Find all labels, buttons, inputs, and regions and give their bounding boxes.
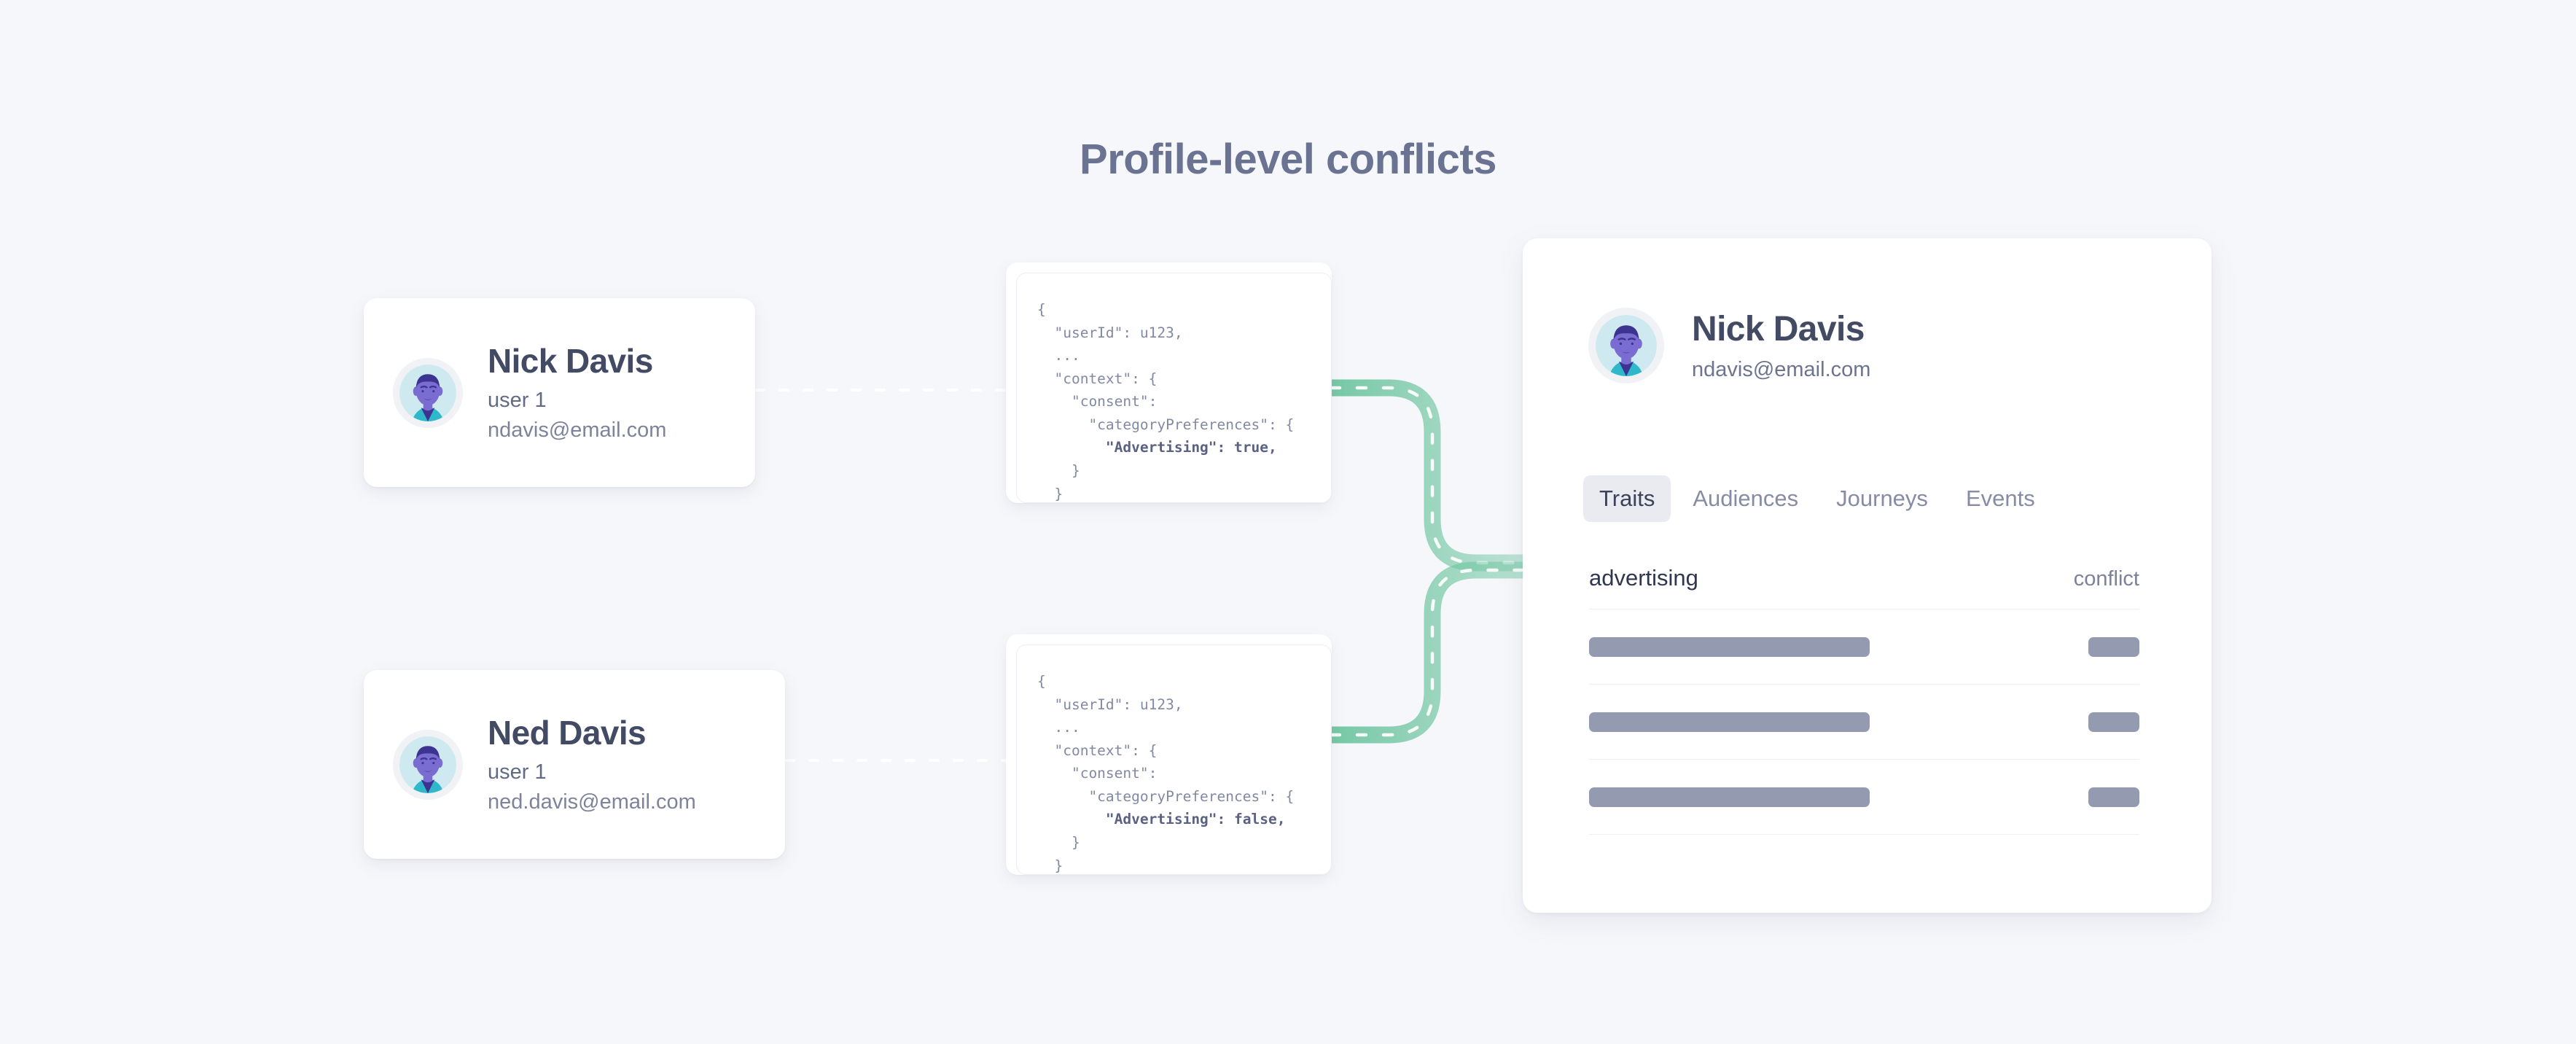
table-row[interactable] xyxy=(1589,760,2139,835)
payload-json: { "userId": u123, ... "context": { "cons… xyxy=(1017,273,1331,503)
avatar xyxy=(393,358,463,428)
payload-card-advertising-true: { "userId": u123, ... "context": { "cons… xyxy=(1006,262,1332,503)
payload-json: { "userId": u123, ... "context": { "cons… xyxy=(1017,645,1331,875)
user-email: ned.davis@email.com xyxy=(488,790,696,814)
user-name: Nick Davis xyxy=(488,342,666,381)
payload-card-advertising-false: { "userId": u123, ... "context": { "cons… xyxy=(1006,634,1332,875)
tab-audiences[interactable]: Audiences xyxy=(1677,475,1814,522)
avatar-illustration-male-icon xyxy=(1596,315,1657,376)
user-identifier: user 1 xyxy=(488,389,666,413)
table-row[interactable] xyxy=(1589,685,2139,760)
trait-value-placeholder xyxy=(2088,637,2139,657)
user-card-nick-davis[interactable]: Nick Davis user 1 ndavis@email.com xyxy=(364,298,755,487)
user-name: Ned Davis xyxy=(488,714,696,752)
table-row[interactable] xyxy=(1589,609,2139,685)
column-header-conflict: conflict xyxy=(2074,567,2139,591)
user-identifier: user 1 xyxy=(488,760,696,784)
tab-events[interactable]: Events xyxy=(1950,475,2051,522)
profile-email: ndavis@email.com xyxy=(1692,358,1870,382)
connector-payload1-to-profile xyxy=(1331,388,1527,563)
profile-tabs: Traits Audiences Journeys Events xyxy=(1583,475,2057,522)
user-email: ndavis@email.com xyxy=(488,418,666,443)
code-block: { "userId": u123, ... "context": { "cons… xyxy=(1016,273,1332,503)
trait-value-placeholder xyxy=(2088,712,2139,732)
avatar xyxy=(393,730,463,800)
connector-payload2-to-profile xyxy=(1331,570,1527,735)
profile-name: Nick Davis xyxy=(1692,309,1870,349)
trait-name-placeholder xyxy=(1589,712,1870,732)
profile-header: Nick Davis ndavis@email.com xyxy=(1588,308,1870,383)
user-card-ned-davis[interactable]: Ned Davis user 1 ned.davis@email.com xyxy=(364,670,785,859)
tab-journeys[interactable]: Journeys xyxy=(1820,475,1944,522)
column-header-trait: advertising xyxy=(1589,565,1698,591)
avatar-illustration-male-icon xyxy=(399,365,456,421)
tab-traits[interactable]: Traits xyxy=(1583,475,1671,522)
avatar xyxy=(1588,308,1664,383)
diagram-canvas: Profile-level conflicts xyxy=(0,0,2576,1044)
trait-name-placeholder xyxy=(1589,637,1870,657)
trait-name-placeholder xyxy=(1589,787,1870,807)
traits-table-header: advertising conflict xyxy=(1589,565,2139,609)
trait-value-placeholder xyxy=(2088,787,2139,807)
avatar-illustration-male-icon xyxy=(399,736,456,793)
page-title: Profile-level conflicts xyxy=(0,135,2576,184)
code-block: { "userId": u123, ... "context": { "cons… xyxy=(1016,644,1332,875)
traits-table: advertising conflict xyxy=(1589,565,2139,835)
